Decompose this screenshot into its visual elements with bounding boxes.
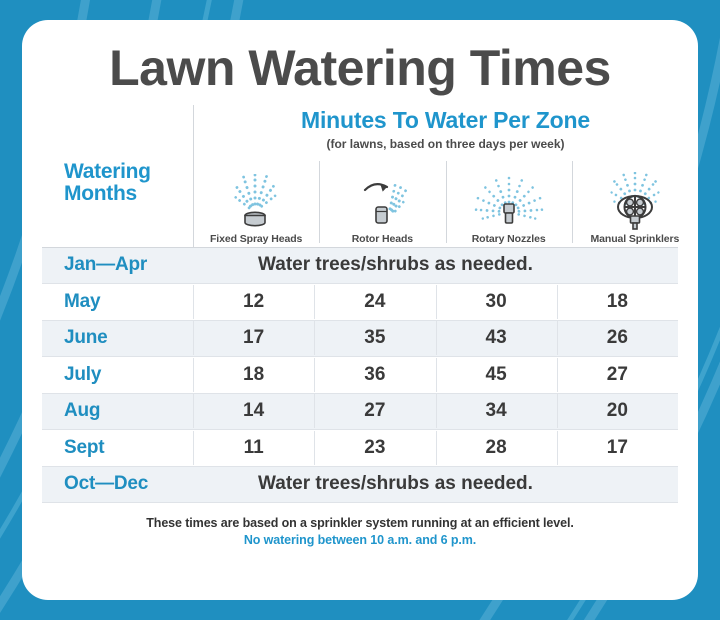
fixed-spray-head-icon xyxy=(219,172,293,230)
column-header-rotary-nozzles: Rotary Nozzles xyxy=(446,157,572,247)
table-row: Oct—Dec Water trees/shrubs as needed. xyxy=(42,467,678,504)
watering-months-line1: Watering xyxy=(64,161,189,183)
infographic-card: Lawn Watering Times Minutes To Water Per… xyxy=(22,20,698,600)
column-header-row: Fixed Spray Heads xyxy=(193,157,698,247)
column-header-rotor-heads: Rotor Heads xyxy=(319,157,445,247)
cell-rotary-nozzles: 43 xyxy=(436,327,557,349)
table-row: July 18 36 45 27 xyxy=(42,357,678,394)
column-header-manual-sprinklers: Manual Sprinklers xyxy=(572,157,698,247)
table-row: Sept 11 23 28 17 xyxy=(42,430,678,467)
cell-fixed-spray-heads: 17 xyxy=(193,327,314,349)
footer-note-restriction: No watering between 10 a.m. and 6 p.m. xyxy=(22,533,698,547)
cell-rotor-heads: 24 xyxy=(314,291,435,313)
row-month-label: June xyxy=(42,327,193,349)
cell-rotor-heads: 27 xyxy=(314,400,435,422)
subtitle-note: (for lawns, based on three days per week… xyxy=(193,137,698,151)
rotary-nozzle-icon xyxy=(460,172,558,230)
manual-sprinkler-icon xyxy=(589,172,681,230)
column-label-rotor-heads: Rotor Heads xyxy=(352,233,413,245)
watering-times-table: Jan—Apr Water trees/shrubs as needed. Ma… xyxy=(42,247,678,504)
column-header-fixed-spray-heads: Fixed Spray Heads xyxy=(193,157,319,247)
row-month-label: Sept xyxy=(42,437,193,459)
cell-manual-sprinklers: 26 xyxy=(557,327,678,349)
watering-months-header: Watering Months xyxy=(64,161,189,205)
cell-rotor-heads: 23 xyxy=(314,437,435,459)
cell-rotary-nozzles: 34 xyxy=(436,400,557,422)
row-month-label: Oct—Dec xyxy=(42,473,193,495)
row-span-message: Water trees/shrubs as needed. xyxy=(193,254,678,276)
table-row: Jan—Apr Water trees/shrubs as needed. xyxy=(42,248,678,285)
row-month-label: Jan—Apr xyxy=(42,254,193,276)
column-label-manual-sprinklers: Manual Sprinklers xyxy=(591,233,680,245)
cell-fixed-spray-heads: 12 xyxy=(193,291,314,313)
cell-fixed-spray-heads: 14 xyxy=(193,400,314,422)
page-title: Lawn Watering Times xyxy=(22,20,698,95)
footer-notes: These times are based on a sprinkler sys… xyxy=(22,516,698,547)
row-month-label: July xyxy=(42,364,193,386)
row-span-message: Water trees/shrubs as needed. xyxy=(193,473,678,495)
cell-rotary-nozzles: 30 xyxy=(436,291,557,313)
cell-rotary-nozzles: 28 xyxy=(436,437,557,459)
footer-note-efficiency: These times are based on a sprinkler sys… xyxy=(22,516,698,530)
subtitle: Minutes To Water Per Zone xyxy=(193,107,698,134)
column-label-fixed-spray-heads: Fixed Spray Heads xyxy=(210,233,302,245)
cell-manual-sprinklers: 20 xyxy=(557,400,678,422)
table-header-zone: Minutes To Water Per Zone (for lawns, ba… xyxy=(22,95,698,247)
rotor-head-icon xyxy=(345,172,419,230)
table-row: May 12 24 30 18 xyxy=(42,284,678,321)
row-month-label: May xyxy=(42,291,193,313)
table-row: Aug 14 27 34 20 xyxy=(42,394,678,431)
column-label-rotary-nozzles: Rotary Nozzles xyxy=(472,233,546,245)
cell-rotor-heads: 35 xyxy=(314,327,435,349)
row-month-label: Aug xyxy=(42,400,193,422)
cell-manual-sprinklers: 18 xyxy=(557,291,678,313)
cell-manual-sprinklers: 17 xyxy=(557,437,678,459)
cell-manual-sprinklers: 27 xyxy=(557,364,678,386)
cell-rotor-heads: 36 xyxy=(314,364,435,386)
watering-months-line2: Months xyxy=(64,183,189,205)
cell-rotary-nozzles: 45 xyxy=(436,364,557,386)
cell-fixed-spray-heads: 18 xyxy=(193,364,314,386)
table-row: June 17 35 43 26 xyxy=(42,321,678,358)
cell-fixed-spray-heads: 11 xyxy=(193,437,314,459)
